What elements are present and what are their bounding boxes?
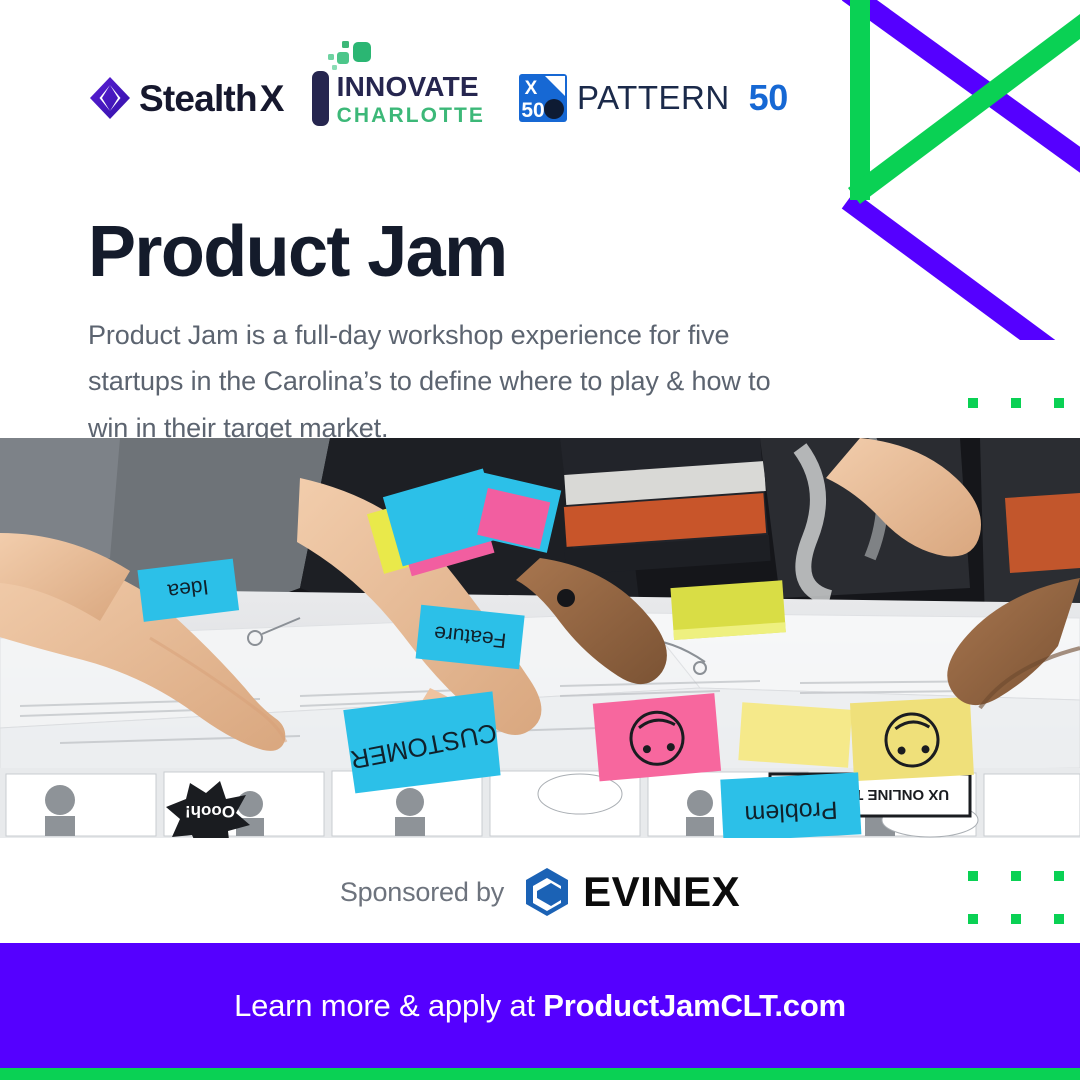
grid-dot (968, 398, 978, 408)
evinex-wordmark: EVINEX (583, 868, 740, 916)
pattern50-number: 50 (749, 77, 788, 119)
logo-innovate-charlotte[interactable]: INNOVATE CHARLOTTE (312, 71, 485, 126)
pattern50-word: PATTERN (577, 79, 730, 117)
grid-dot (1011, 398, 1021, 408)
stealthx-diamond-icon (90, 77, 130, 119)
svg-text:X: X (525, 78, 538, 99)
pattern50-grid-icon: X 50 (519, 74, 567, 122)
poster: StealthX INNOVATE CHARLOTTE (0, 0, 1080, 1080)
stealthx-word-main: Stealth (139, 78, 257, 119)
cta-text: Learn more & apply at ProductJamCLT.com (234, 988, 846, 1024)
innovate-line2: CHARLOTTE (337, 105, 485, 126)
logo-evinex[interactable]: EVINEX (522, 867, 740, 917)
svg-text:Problem: Problem (744, 796, 838, 829)
cta-prefix: Learn more & apply at (234, 988, 543, 1023)
sponsored-by-label: Sponsored by (340, 877, 504, 908)
svg-text:50: 50 (521, 99, 544, 122)
workshop-photo: Oooh! UX ONLINE TRAINING (0, 438, 1080, 838)
svg-text:Oooh!: Oooh! (185, 802, 235, 821)
evinex-hexagon-icon (522, 867, 572, 917)
logo-pattern50[interactable]: X 50 PATTERN 50 (519, 74, 788, 122)
stealthx-word-accent: X (260, 78, 284, 119)
innovate-charlotte-pixel-icon (325, 41, 375, 73)
bottom-accent-strip (0, 1068, 1080, 1080)
stealthx-wordmark: StealthX (139, 80, 284, 117)
grid-dot (1054, 398, 1064, 408)
sponsor-row: Sponsored by EVINEX (0, 866, 1080, 918)
triangle-lines-motif (840, 0, 1080, 340)
cta-url[interactable]: ProductJamCLT.com (543, 988, 846, 1023)
cta-bar[interactable]: Learn more & apply at ProductJamCLT.com (0, 943, 1080, 1068)
innovate-line1: INNOVATE (337, 73, 485, 101)
partner-logo-row: StealthX INNOVATE CHARLOTTE (90, 62, 788, 134)
logo-stealthx[interactable]: StealthX (90, 77, 284, 119)
page-title: Product Jam (88, 216, 507, 288)
innovate-charlotte-bar (312, 71, 329, 126)
description-text: Product Jam is a full-day workshop exper… (88, 312, 808, 451)
